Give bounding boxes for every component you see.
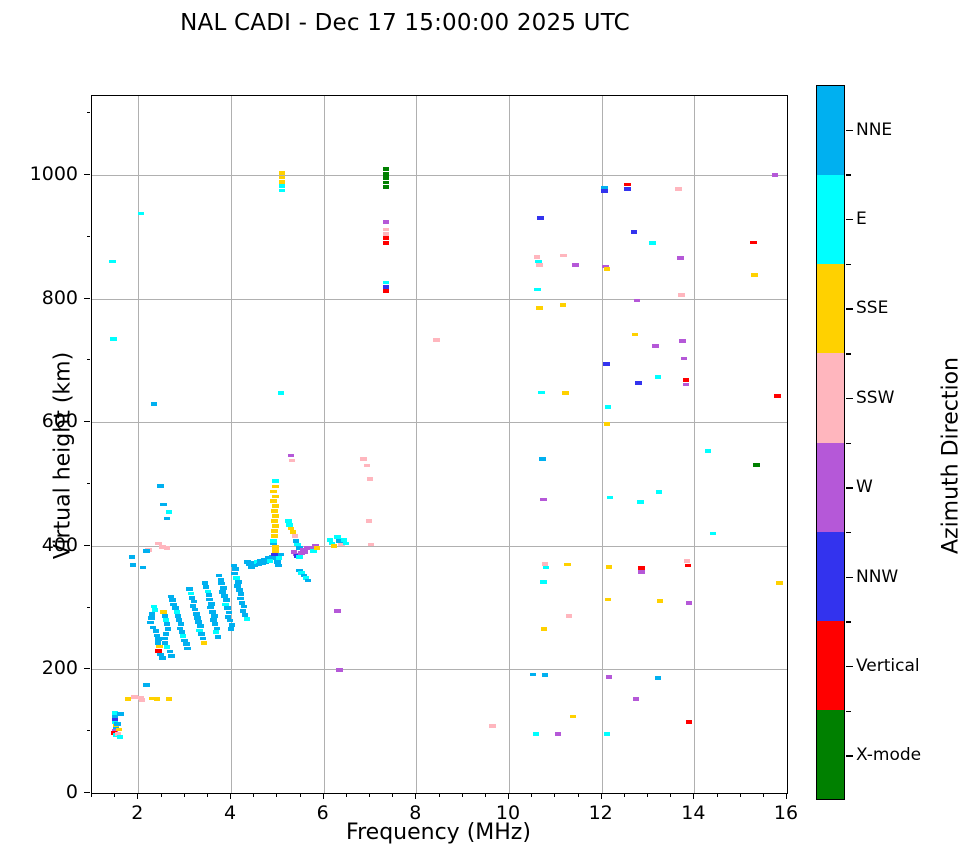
colorbar-label-e: E [856,209,867,229]
y-axis-minor-tick [87,112,91,113]
data-point [360,457,366,461]
x-axis-minor-tick [300,793,301,797]
data-point [540,498,546,502]
colorbar-segment-x-mode [817,710,844,799]
data-point [383,285,389,289]
data-point [117,712,123,716]
data-point [139,698,145,702]
data-point [383,220,389,224]
data-point [224,606,230,610]
data-point [209,610,215,614]
data-point [632,333,638,337]
y-axis-tick [84,668,90,669]
colorbar-label-x-mode: X-mode [856,745,921,765]
data-point [229,623,235,627]
data-point [278,553,284,557]
data-point [383,176,389,180]
x-axis-minor-tick [369,793,370,797]
data-point [433,338,439,342]
data-point [163,618,169,622]
x-axis-tick [137,793,138,799]
x-axis-tick [508,793,509,799]
data-point [542,673,548,677]
x-axis-minor-tick [763,793,764,797]
data-point [334,609,340,613]
x-axis-minor-tick [531,793,532,797]
data-point [201,641,207,645]
colorbar-label-vertical: Vertical [856,656,920,676]
data-point [270,539,276,543]
data-point [164,517,170,521]
data-point [314,546,320,550]
x-axis-minor-tick [462,793,463,797]
colorbar-boundary-tick [846,174,851,175]
colorbar-segment-nnw [817,532,844,621]
data-point [540,580,546,584]
colorbar-boundary-tick [846,711,851,712]
plot-area [91,95,788,794]
data-point [147,621,153,625]
data-point [601,189,607,193]
data-point [278,391,284,395]
data-point [774,394,780,398]
data-point [572,263,578,267]
y-axis-tick-label: 0 [13,781,78,803]
data-point [227,619,233,623]
data-point [539,457,545,461]
data-point [270,499,276,503]
data-point [686,601,692,605]
data-point [183,642,189,646]
colorbar-segment-vertical [817,621,844,710]
colorbar-segment-w [817,443,844,532]
data-point [652,344,658,348]
data-point [202,581,208,585]
data-point [560,303,566,307]
x-axis-tick [786,793,787,799]
data-point [753,463,759,467]
data-point [270,490,276,494]
data-point [232,567,238,571]
data-point [383,172,389,176]
x-axis-minor-tick [184,793,185,797]
data-point [213,630,219,634]
data-point [143,683,149,687]
x-axis-minor-tick [392,793,393,797]
data-point [164,645,170,649]
data-point [148,616,154,620]
x-axis-tick [693,793,694,799]
data-point [235,580,241,584]
data-point [675,187,681,191]
data-point [681,357,687,361]
data-point [635,381,641,385]
data-point [383,281,389,285]
data-point [607,496,613,500]
data-point [364,464,370,468]
data-point [203,585,209,589]
data-point [655,676,661,680]
x-axis-minor-tick [554,793,555,797]
x-axis-tick [323,793,324,799]
data-point [603,362,609,366]
data-point [279,171,285,175]
data-point [149,612,155,616]
data-point [166,697,172,701]
data-point [200,637,206,641]
x-axis-minor-tick [161,793,162,797]
data-point [292,534,298,538]
data-point [129,555,135,559]
colorbar [816,85,845,800]
data-point [130,563,136,567]
colorbar-tick [846,219,853,220]
page-title: NAL CADI - Dec 17 15:00:00 2025 UTC [0,10,810,36]
data-point [705,449,711,453]
data-point [368,543,374,547]
data-point [678,293,684,297]
data-point [383,185,389,189]
data-point [206,593,212,597]
colorbar-segment-sse [817,264,844,353]
x-axis-minor-tick [485,793,486,797]
data-point [530,673,536,677]
data-point [570,715,576,719]
data-point [166,510,172,514]
data-point [684,559,690,563]
data-point [272,479,278,483]
data-point [271,534,277,538]
data-point [272,495,278,499]
data-point [110,337,116,341]
data-point [383,167,389,171]
data-point [750,241,756,245]
data-point [336,668,342,672]
colorbar-tick [846,577,853,578]
data-point [241,605,247,609]
x-axis-minor-tick [647,793,648,797]
data-point [537,216,543,220]
x-axis-minor-tick [624,793,625,797]
y-axis-minor-tick [87,236,91,237]
data-point [216,574,222,578]
data-point [275,564,281,568]
data-point [624,183,630,187]
data-point [228,627,234,631]
data-point [193,612,199,616]
data-point [296,555,302,559]
data-point [331,544,337,548]
y-axis-tick [84,792,90,793]
data-point [383,289,389,293]
data-point [161,637,167,641]
data-point [751,273,757,277]
data-point [279,184,285,188]
data-point [143,549,149,553]
data-point [240,609,246,613]
data-point [174,610,180,614]
data-point [279,176,285,180]
ionogram-figure: NAL CADI - Dec 17 15:00:00 2025 UTC 2468… [0,0,958,857]
data-point [156,645,162,649]
data-point [383,228,389,232]
colorbar-title: Azimuth Direction [939,306,958,606]
data-point [679,339,685,343]
data-point [234,584,240,588]
data-point [367,477,373,481]
data-point [633,697,639,701]
data-point [272,514,278,518]
data-point [163,632,169,636]
data-point [489,724,495,728]
data-point [638,570,644,574]
data-point [566,614,572,618]
x-axis-minor-tick [276,793,277,797]
x-axis-minor-tick [670,793,671,797]
data-point [605,598,611,602]
data-point [210,618,216,622]
data-point [683,383,689,387]
data-point [604,422,610,426]
data-point [272,485,278,489]
data-point [562,391,568,395]
data-point [237,597,243,601]
y-axis-minor-tick [87,607,91,608]
data-point [164,546,170,550]
data-point [560,254,566,258]
data-point [244,617,250,621]
colorbar-tick [846,666,853,667]
data-point [279,189,285,193]
data-point [116,728,122,732]
data-point [180,634,186,638]
y-axis-tick [84,298,90,299]
x-axis-minor-tick [717,793,718,797]
x-axis-tick [415,793,416,799]
data-point [271,529,277,533]
y-axis-tick [84,421,90,422]
data-point [543,566,549,570]
data-point [383,241,389,245]
data-point [151,402,157,406]
data-point [534,255,540,259]
data-point [191,600,197,604]
data-point [685,564,691,568]
data-point [165,627,171,631]
data-point [109,260,115,264]
data-point [343,542,349,546]
data-point [710,532,716,536]
data-point [238,592,244,596]
data-point [272,524,278,528]
y-axis-tick-label: 1000 [13,163,78,185]
x-axis-tick [230,793,231,799]
data-point [138,212,144,216]
data-point [271,509,277,513]
x-axis-minor-tick [253,793,254,797]
data-point [114,722,120,726]
data-point [167,650,173,654]
data-point [140,566,146,570]
data-point [683,378,689,382]
data-point [649,241,655,245]
data-point [776,581,782,585]
data-point [637,500,643,504]
data-point [289,459,295,463]
data-point [624,187,630,191]
data-point [533,732,539,736]
colorbar-label-w: W [856,477,873,497]
data-point [655,375,661,379]
data-point [276,556,282,560]
data-point [159,656,165,660]
colorbar-segment-nne [817,86,844,175]
data-point [153,629,159,633]
y-axis-tick [84,174,90,175]
x-axis-minor-tick [91,793,92,797]
colorbar-label-nne: NNE [856,120,892,140]
x-axis-minor-tick [114,793,115,797]
data-point [305,579,311,583]
data-point [223,598,229,602]
x-axis-minor-tick [439,793,440,797]
data-point [218,582,224,586]
colorbar-label-nnw: NNW [856,567,898,587]
data-point [164,622,170,626]
colorbar-boundary-tick [846,443,851,444]
data-point [631,230,637,234]
colorbar-label-sse: SSE [856,298,888,318]
data-point [192,608,198,612]
data-point [220,586,226,590]
data-point [383,181,389,185]
y-axis-minor-tick [87,359,91,360]
data-point [772,173,778,177]
data-point [279,180,285,184]
x-axis-tick [601,793,602,799]
data-point [534,288,540,292]
data-point [188,592,194,596]
data-point [212,622,218,626]
data-point [555,732,561,736]
colorbar-boundary-tick [846,621,851,622]
data-point [197,624,203,628]
data-point [198,632,204,636]
data-point [657,599,663,603]
data-point [221,594,227,598]
colorbar-tick [846,398,853,399]
data-point [195,620,201,624]
data-point [605,405,611,409]
colorbar-segment-e [817,175,844,264]
data-point [383,236,389,240]
data-point [226,611,232,615]
data-point [272,504,278,508]
data-point [162,614,168,618]
colorbar-boundary-tick [846,264,851,265]
data-point [162,641,168,645]
data-point [186,587,192,591]
data-point [271,519,277,523]
data-point [178,622,184,626]
colorbar-tick [846,130,853,131]
data-point [154,697,160,701]
data-point [606,675,612,679]
data-point [564,563,570,567]
data-point [206,598,212,602]
data-point [157,484,163,488]
data-point [686,720,692,724]
data-point [383,232,389,236]
data-point [302,550,308,554]
colorbar-tick [846,755,853,756]
colorbar-boundary-tick [846,353,851,354]
data-point [541,627,547,631]
data-point [604,267,610,271]
data-point [536,263,542,267]
data-point [168,654,174,658]
y-axis-minor-tick [87,483,91,484]
x-axis-minor-tick [578,793,579,797]
data-point [677,256,683,260]
data-point [207,606,213,610]
y-axis-minor-tick [87,730,91,731]
data-point [536,306,542,310]
data-point [538,391,544,395]
data-point [169,598,175,602]
y-axis-label: Virtual height (km) [51,256,76,656]
x-axis-minor-tick [207,793,208,797]
data-point [160,503,166,507]
y-axis-tick-label: 200 [13,657,78,679]
x-axis-label: Frequency (MHz) [91,820,786,845]
data-point [215,635,221,639]
colorbar-tick [846,308,853,309]
x-axis-minor-tick [740,793,741,797]
data-point [184,647,190,651]
colorbar-boundary-tick [846,532,851,533]
colorbar-label-ssw: SSW [856,388,894,408]
data-point [604,732,610,736]
data-point [366,519,372,523]
y-axis-tick [84,545,90,546]
data-point [176,618,182,622]
colorbar-segment-ssw [817,353,844,442]
data-point [231,572,237,576]
data-point [288,454,294,458]
colorbar-tick [846,487,853,488]
x-axis-minor-tick [346,793,347,797]
data-point [634,299,640,303]
data-points-layer [92,96,787,793]
data-point [656,490,662,494]
data-point [606,565,612,569]
data-point [117,735,123,739]
